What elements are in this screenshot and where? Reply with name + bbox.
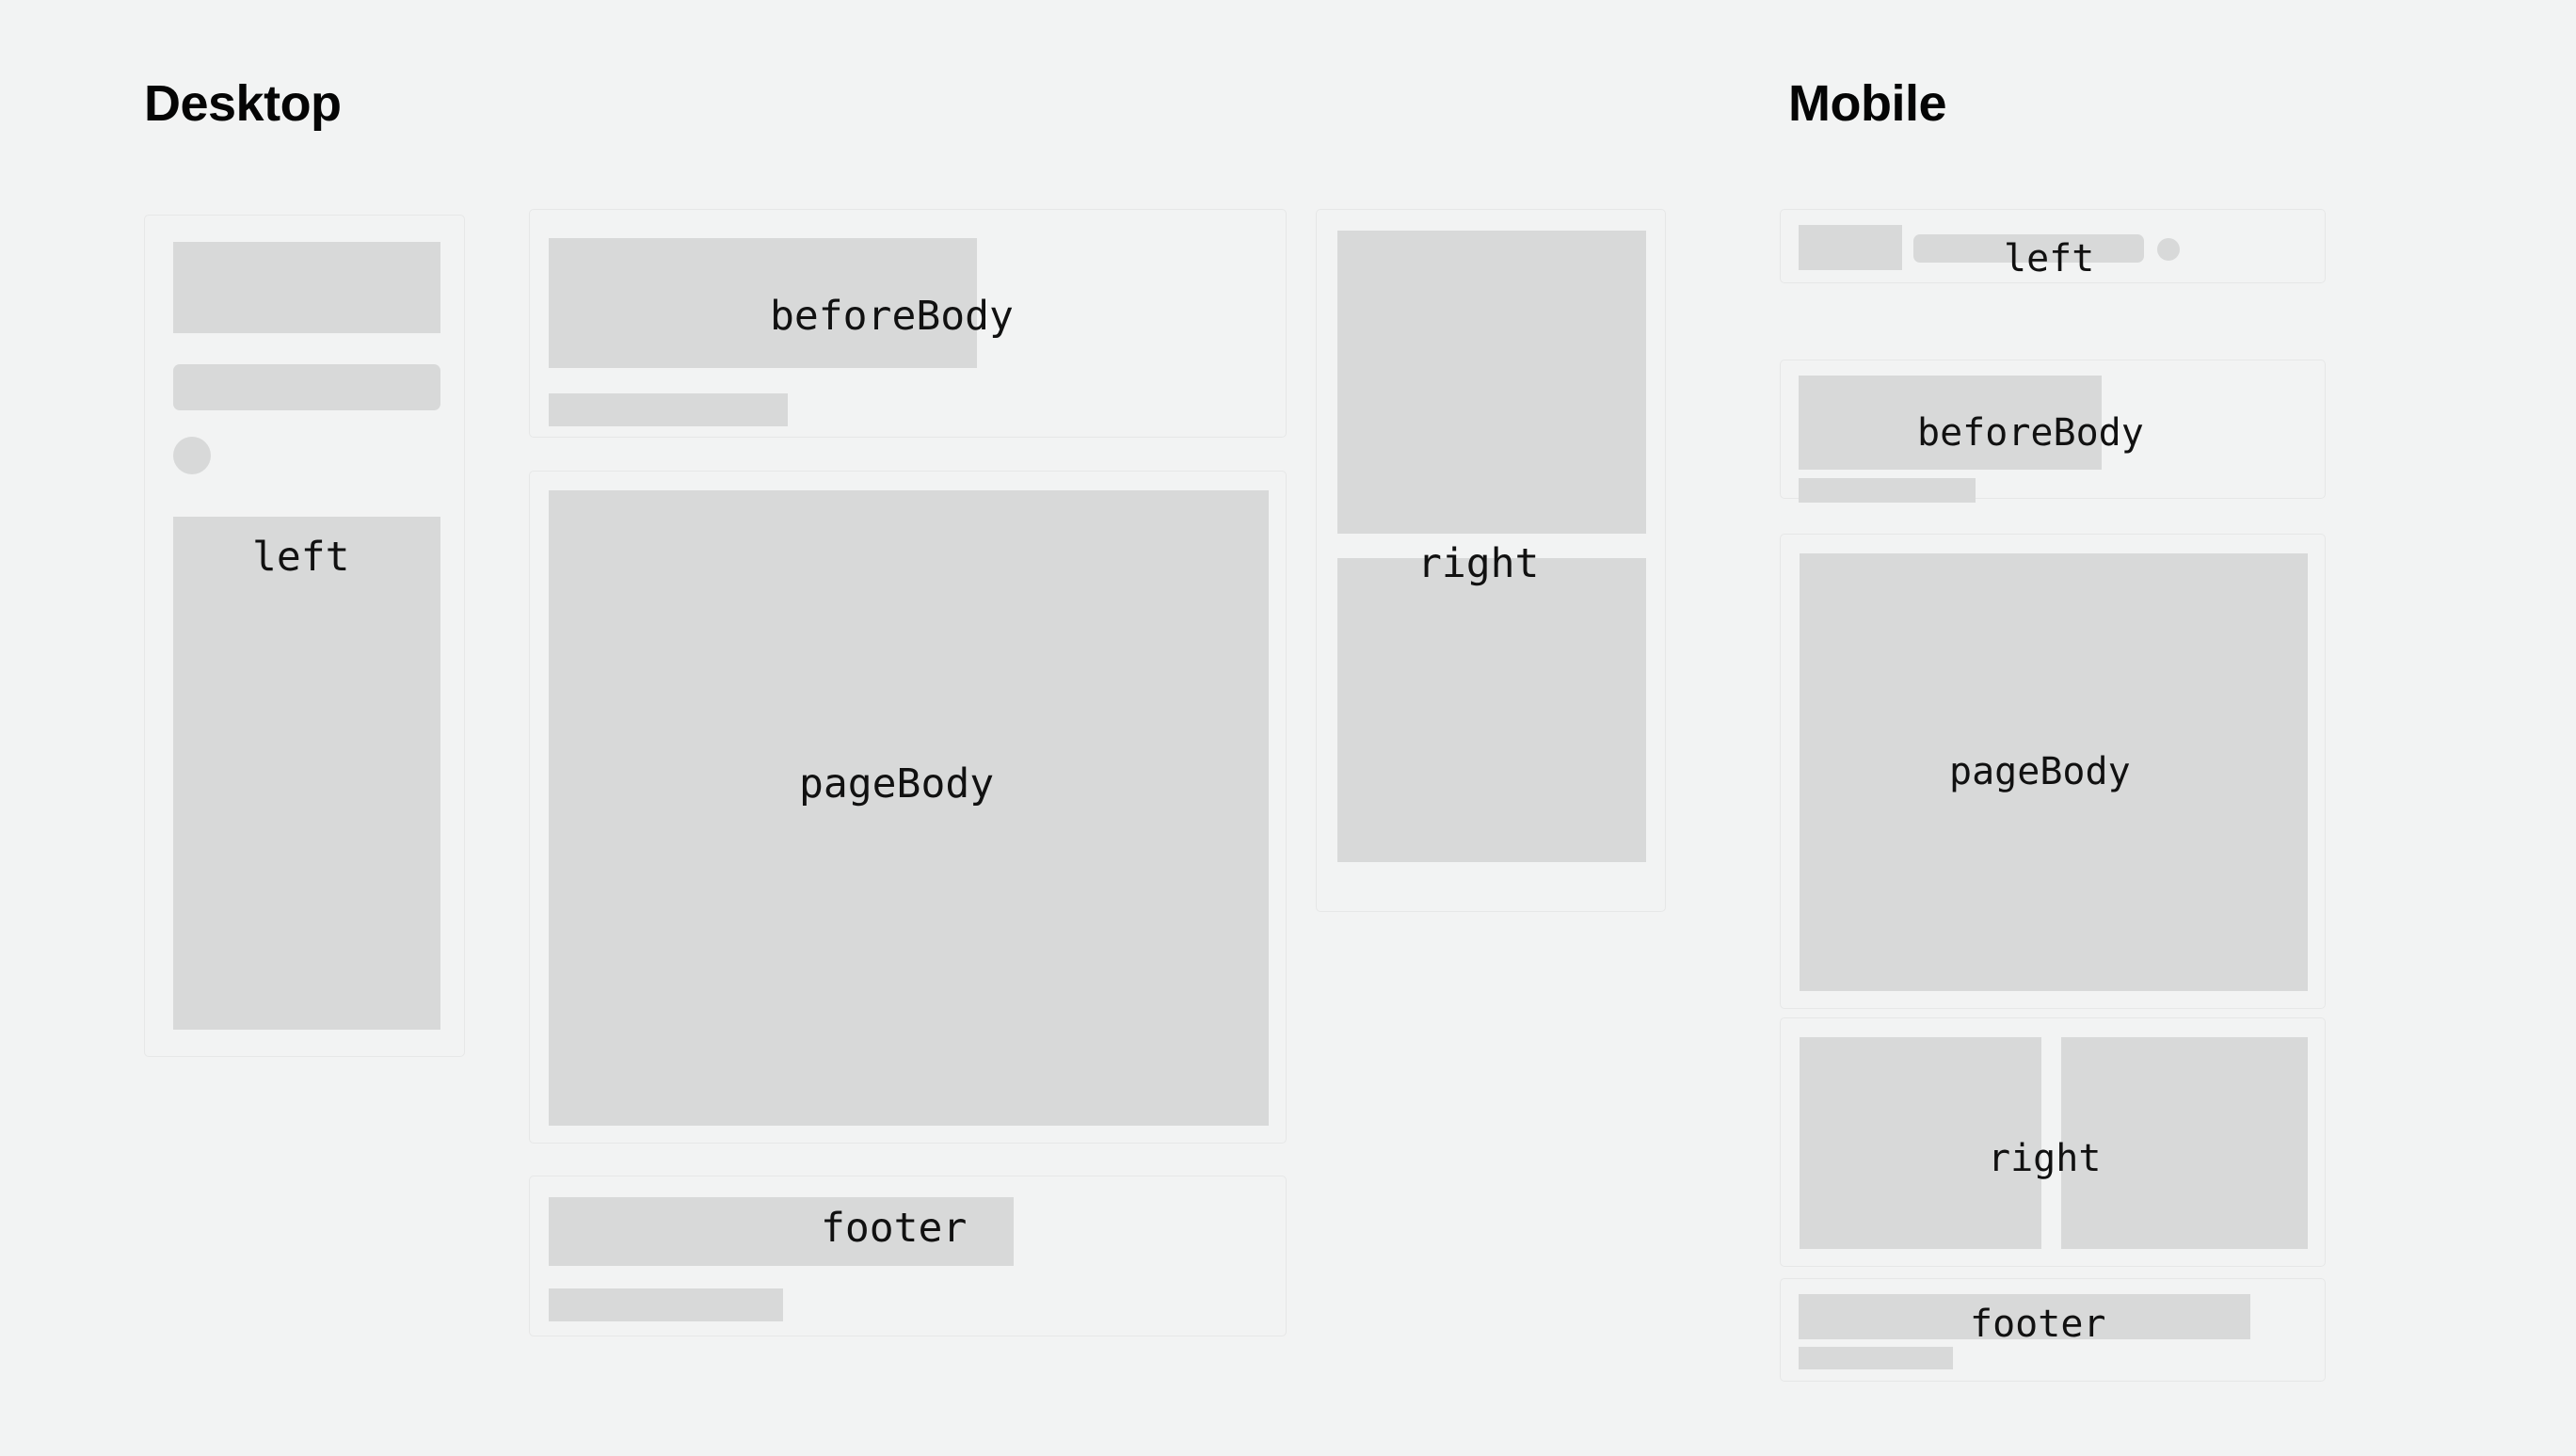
placeholder-block-small [1799, 478, 1976, 503]
desktop-left-panel[interactable] [144, 215, 465, 1057]
placeholder-block-bottom [1337, 558, 1646, 862]
placeholder-block-top [1337, 231, 1646, 534]
placeholder-bar-tall [173, 242, 440, 333]
mobile-pagebody-region-label: pageBody [1949, 753, 2131, 791]
desktop-right-region-label: right [1417, 544, 1539, 584]
mobile-left-region-label: left [2004, 240, 2094, 278]
mobile-section-heading: Mobile [1788, 78, 1946, 129]
desktop-section-heading: Desktop [144, 78, 342, 129]
mobile-beforebody-region-label: beforeBody [1917, 414, 2144, 452]
placeholder-bar-rounded [173, 364, 440, 410]
desktop-left-region-label: left [252, 537, 350, 578]
placeholder-block-full [549, 490, 1269, 1126]
placeholder-circle-icon [173, 437, 211, 474]
mobile-right-region-label: right [1988, 1140, 2101, 1177]
desktop-beforebody-region-label: beforeBody [770, 296, 1014, 337]
placeholder-block-small [549, 393, 788, 426]
desktop-footer-panel[interactable] [529, 1176, 1287, 1336]
placeholder-circle-icon [2157, 238, 2180, 261]
placeholder-bar-small [1799, 1347, 1953, 1369]
desktop-footer-region-label: footer [821, 1208, 967, 1249]
mobile-footer-region-label: footer [1970, 1305, 2106, 1343]
placeholder-block [1799, 225, 1902, 270]
desktop-pagebody-region-label: pageBody [799, 764, 994, 805]
placeholder-content-block [173, 517, 440, 1030]
placeholder-bar-small [549, 1288, 783, 1321]
layout-preview-canvas: Desktop left beforeBody pageBody right f… [0, 0, 2576, 1456]
